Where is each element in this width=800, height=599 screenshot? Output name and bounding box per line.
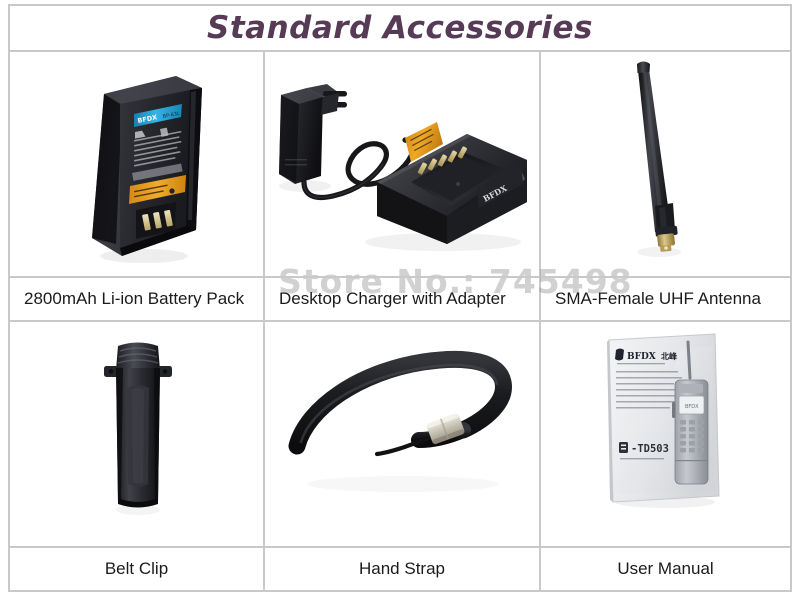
product-cell-hand-strap[interactable]: Hand Strap — [263, 322, 539, 590]
product-media-battery-pack: BFDX BP-63L — [10, 52, 263, 276]
svg-text:北峰: 北峰 — [661, 351, 677, 361]
uhf-antenna-image — [589, 56, 739, 266]
hand-strap-image — [273, 334, 535, 524]
caption-user-manual: User Manual — [541, 546, 790, 590]
svg-text:BFDX: BFDX — [685, 404, 699, 410]
page-title: Standard Accessories — [207, 10, 593, 46]
product-cell-desktop-charger[interactable]: BFDX Desktop Charger with Adapter — [263, 52, 539, 320]
product-cell-uhf-antenna[interactable]: SMA-Female UHF Antenna — [539, 52, 790, 320]
svg-text:BFDX: BFDX — [627, 352, 656, 362]
product-media-hand-strap — [265, 322, 539, 546]
user-manual-image: BFDX 北峰 — [589, 326, 739, 516]
caption-uhf-antenna: SMA-Female UHF Antenna — [541, 276, 790, 320]
caption-belt-clip: Belt Clip — [10, 546, 263, 590]
product-cell-battery-pack[interactable]: BFDX BP-63L — [10, 52, 263, 320]
desktop-charger-image: BFDX — [271, 64, 537, 264]
product-media-desktop-charger: BFDX — [265, 52, 539, 276]
battery-pack-image: BFDX BP-63L — [68, 60, 218, 270]
svg-text:-TD503: -TD503 — [631, 443, 669, 455]
caption-battery-pack: 2800mAh Li-ion Battery Pack — [10, 276, 263, 320]
product-cell-user-manual[interactable]: BFDX 北峰 — [539, 322, 790, 590]
belt-clip-image — [80, 334, 200, 524]
accessories-page: Standard Accessories — [0, 0, 800, 599]
product-row-top: BFDX BP-63L — [10, 52, 790, 322]
product-media-belt-clip — [10, 322, 263, 546]
product-media-user-manual: BFDX 北峰 — [541, 322, 790, 546]
title-bar: Standard Accessories — [10, 6, 790, 52]
accessories-table: Standard Accessories — [8, 4, 792, 592]
caption-hand-strap: Hand Strap — [265, 546, 539, 590]
caption-desktop-charger: Desktop Charger with Adapter — [265, 276, 539, 320]
product-cell-belt-clip[interactable]: Belt Clip — [10, 322, 263, 590]
product-row-bottom: Belt Clip — [10, 322, 790, 590]
product-media-uhf-antenna — [541, 52, 790, 276]
